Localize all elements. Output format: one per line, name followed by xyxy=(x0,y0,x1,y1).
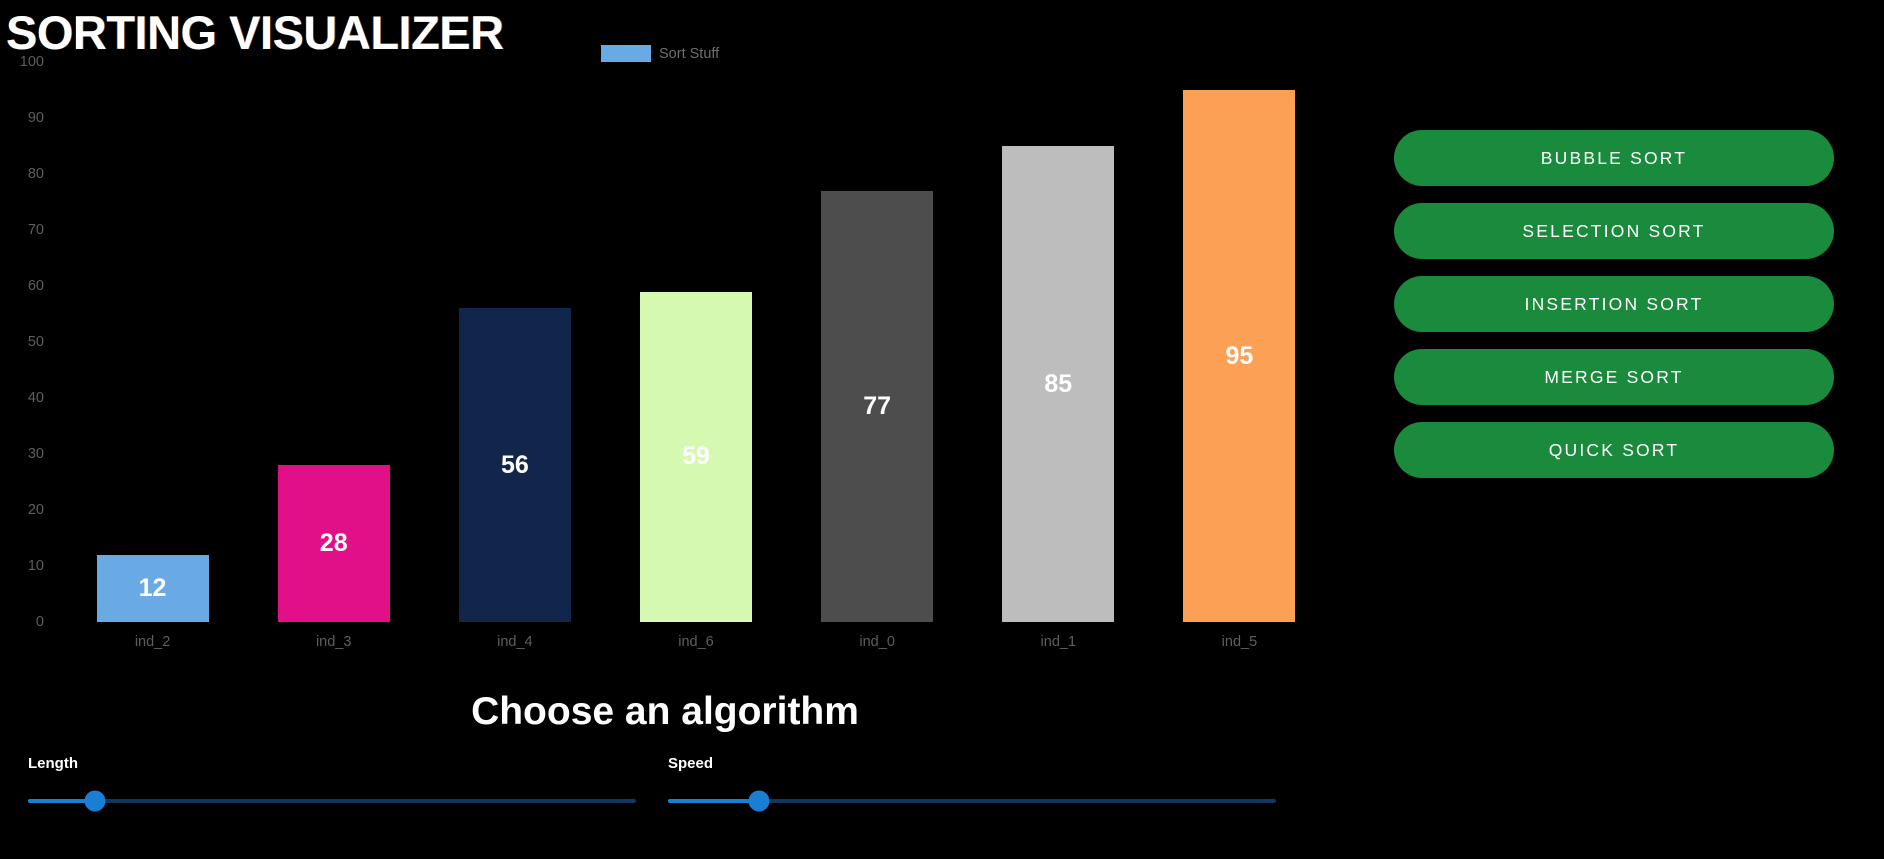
y-axis-tick: 80 xyxy=(28,166,44,182)
bar-column: 28ind_3 xyxy=(278,62,390,622)
bar[interactable]: 59 xyxy=(640,292,752,622)
y-axis: 0102030405060708090100 xyxy=(0,62,52,622)
bar-value-label: 12 xyxy=(139,576,167,601)
length-slider-label: Length xyxy=(28,755,636,772)
bar-value-label: 28 xyxy=(320,531,348,556)
speed-slider[interactable] xyxy=(668,799,1276,803)
speed-slider-thumb[interactable] xyxy=(749,791,770,812)
slider-controls: Length Speed xyxy=(0,755,1530,803)
bar-value-label: 56 xyxy=(501,453,529,478)
algorithm-button-insertion-sort[interactable]: INSERTION SORT xyxy=(1394,276,1834,332)
bar[interactable]: 85 xyxy=(1002,146,1114,622)
bar-value-label: 59 xyxy=(682,444,710,469)
algorithm-button-bubble-sort[interactable]: BUBBLE SORT xyxy=(1394,130,1834,186)
length-slider[interactable] xyxy=(28,799,636,803)
y-axis-tick: 100 xyxy=(20,54,44,70)
bar[interactable]: 77 xyxy=(821,191,933,622)
page-title: SORTING VISUALIZER xyxy=(6,8,504,57)
plot-area: 12ind_228ind_356ind_459ind_677ind_085ind… xyxy=(62,62,1330,622)
y-axis-tick: 20 xyxy=(28,502,44,518)
bar-value-label: 77 xyxy=(863,394,891,419)
length-slider-group: Length xyxy=(28,755,636,803)
bar[interactable]: 95 xyxy=(1183,90,1295,622)
bar-value-label: 85 xyxy=(1044,372,1072,397)
sorting-visualizer-app: SORTING VISUALIZER Sort Stuff 0102030405… xyxy=(0,0,1884,859)
x-axis-category-label: ind_3 xyxy=(316,634,351,650)
legend-swatch-icon xyxy=(601,45,651,62)
choose-algorithm-heading: Choose an algorithm xyxy=(0,690,1330,734)
algorithm-button-selection-sort[interactable]: SELECTION SORT xyxy=(1394,203,1834,259)
bar-column: 59ind_6 xyxy=(640,62,752,622)
bar[interactable]: 12 xyxy=(97,555,209,622)
bar-chart: 0102030405060708090100 12ind_228ind_356i… xyxy=(0,62,1330,672)
y-axis-tick: 10 xyxy=(28,558,44,574)
speed-slider-label: Speed xyxy=(668,755,1276,772)
x-axis-category-label: ind_0 xyxy=(859,634,894,650)
legend-label: Sort Stuff xyxy=(659,46,719,62)
y-axis-tick: 70 xyxy=(28,222,44,238)
y-axis-tick: 50 xyxy=(28,334,44,350)
bar[interactable]: 28 xyxy=(278,465,390,622)
x-axis-category-label: ind_6 xyxy=(678,634,713,650)
bar[interactable]: 56 xyxy=(459,308,571,622)
speed-slider-fill xyxy=(668,799,759,803)
y-axis-tick: 0 xyxy=(36,614,44,630)
x-axis-category-label: ind_5 xyxy=(1222,634,1257,650)
bar-column: 95ind_5 xyxy=(1183,62,1295,622)
algorithm-button-panel: BUBBLE SORTSELECTION SORTINSERTION SORTM… xyxy=(1394,130,1834,478)
y-axis-tick: 90 xyxy=(28,110,44,126)
bar-column: 77ind_0 xyxy=(821,62,933,622)
x-axis-category-label: ind_2 xyxy=(135,634,170,650)
length-slider-thumb[interactable] xyxy=(84,791,105,812)
chart-legend: Sort Stuff xyxy=(601,45,719,62)
bar-value-label: 95 xyxy=(1226,344,1254,369)
bar-column: 12ind_2 xyxy=(97,62,209,622)
y-axis-tick: 60 xyxy=(28,278,44,294)
y-axis-tick: 30 xyxy=(28,446,44,462)
bar-column: 56ind_4 xyxy=(459,62,571,622)
x-axis-category-label: ind_1 xyxy=(1041,634,1076,650)
speed-slider-group: Speed xyxy=(668,755,1276,803)
algorithm-button-quick-sort[interactable]: QUICK SORT xyxy=(1394,422,1834,478)
bar-column: 85ind_1 xyxy=(1002,62,1114,622)
algorithm-button-merge-sort[interactable]: MERGE SORT xyxy=(1394,349,1834,405)
y-axis-tick: 40 xyxy=(28,390,44,406)
x-axis-category-label: ind_4 xyxy=(497,634,532,650)
